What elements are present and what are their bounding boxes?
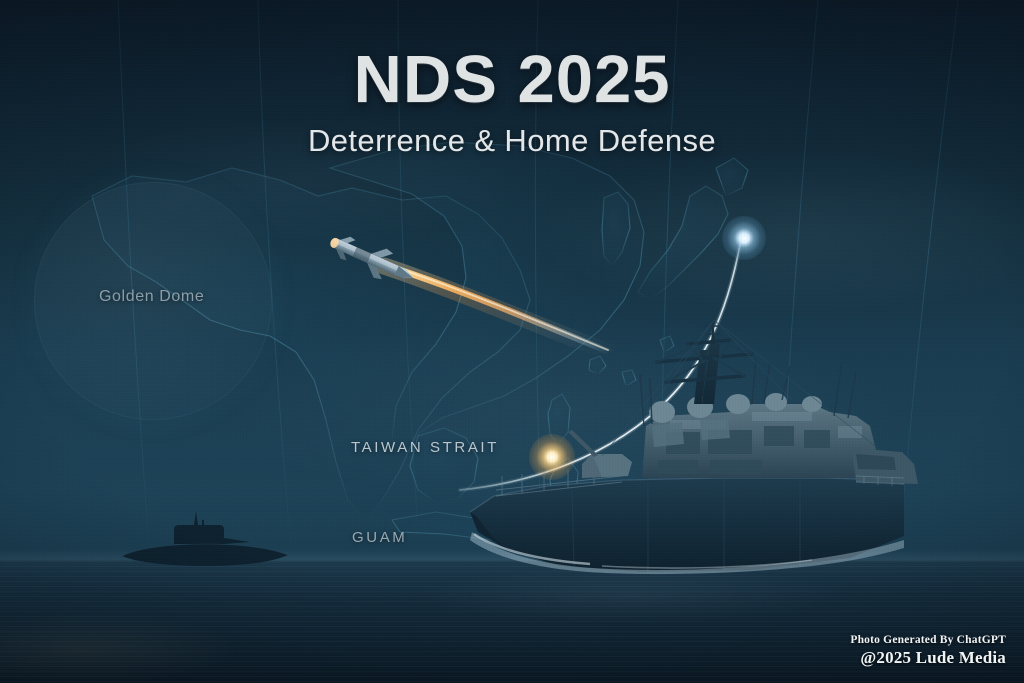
- poster-canvas: NDS 2025 Deterrence & Home Defense Golde…: [0, 0, 1024, 683]
- film-grain: [0, 0, 1024, 683]
